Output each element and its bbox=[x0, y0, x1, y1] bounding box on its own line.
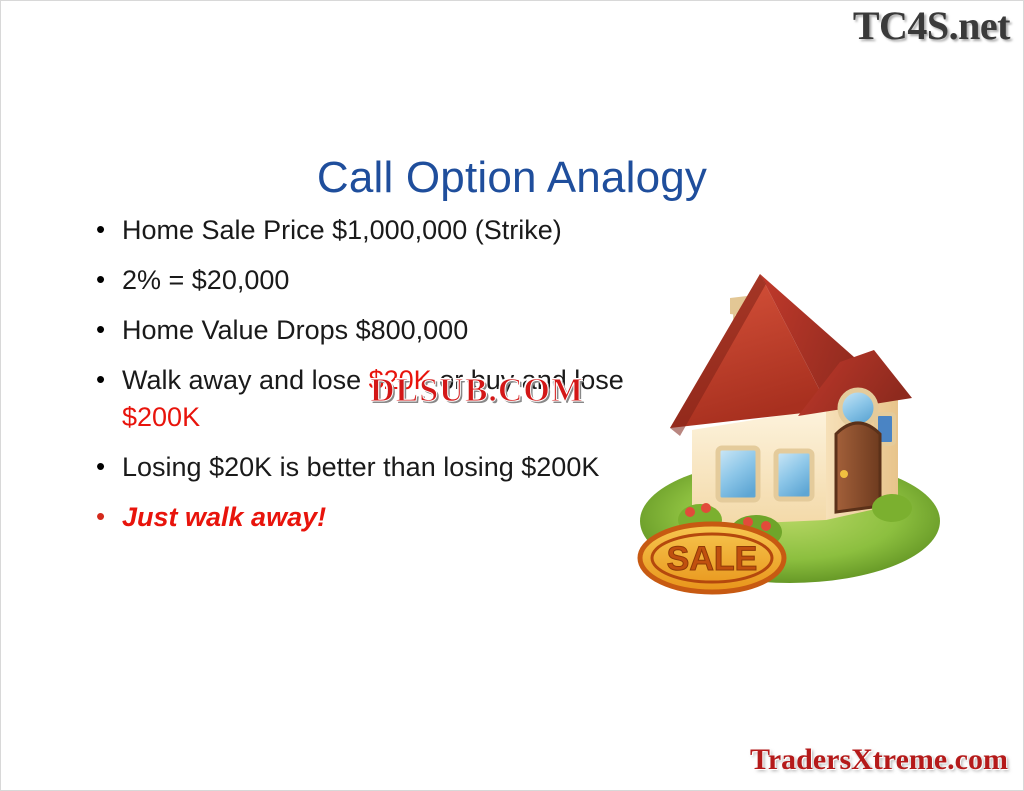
text-segment: Home Value Drops $800,000 bbox=[122, 315, 468, 345]
bullet-marker-icon: • bbox=[96, 312, 122, 346]
sale-sign: SALE bbox=[640, 524, 784, 592]
list-item: • Home Sale Price $1,000,000 (Strike) bbox=[96, 212, 641, 249]
page-title: Call Option Analogy bbox=[0, 153, 1024, 203]
door-shape bbox=[836, 423, 880, 512]
watermark-tc4s: TC4S.net bbox=[853, 2, 1010, 49]
bullet-marker-icon: • bbox=[96, 499, 122, 533]
round-window-shape bbox=[840, 390, 876, 426]
list-item: • Losing $20K is better than losing $200… bbox=[96, 449, 641, 486]
watermark-tradersxtreme: TradersXtreme.com bbox=[750, 743, 1008, 777]
list-item-text: Just walk away! bbox=[122, 499, 641, 536]
text-segment: Walk away and lose bbox=[122, 365, 369, 395]
text-segment-highlight: $200K bbox=[122, 402, 200, 432]
list-item-text: 2% = $20,000 bbox=[122, 262, 641, 299]
house-for-sale-illustration: SALE bbox=[630, 258, 960, 603]
watermark-dlsub: DLSUB.COM bbox=[370, 372, 584, 410]
list-item: • Home Value Drops $800,000 bbox=[96, 312, 641, 349]
text-segment: Just walk away! bbox=[122, 502, 326, 532]
bullet-marker-icon: • bbox=[96, 262, 122, 296]
list-item-text: Home Value Drops $800,000 bbox=[122, 312, 641, 349]
list-item: • Just walk away! bbox=[96, 499, 641, 536]
slide: TC4S.net Call Option Analogy • Home Sale… bbox=[0, 0, 1024, 791]
sale-sign-label: SALE bbox=[667, 540, 758, 578]
text-segment: Losing $20K is better than losing $200K bbox=[122, 452, 599, 482]
bullet-marker-icon: • bbox=[96, 449, 122, 483]
text-segment: 2% = $20,000 bbox=[122, 265, 289, 295]
list-item-text: Home Sale Price $1,000,000 (Strike) bbox=[122, 212, 641, 249]
window-shape bbox=[776, 451, 812, 499]
window-shape bbox=[718, 448, 758, 500]
list-item-text: Losing $20K is better than losing $200K bbox=[122, 449, 641, 486]
text-segment: Home Sale Price $1,000,000 (Strike) bbox=[122, 215, 562, 245]
bullet-marker-icon: • bbox=[96, 212, 122, 246]
bullet-marker-icon: • bbox=[96, 362, 122, 396]
list-item: • 2% = $20,000 bbox=[96, 262, 641, 299]
